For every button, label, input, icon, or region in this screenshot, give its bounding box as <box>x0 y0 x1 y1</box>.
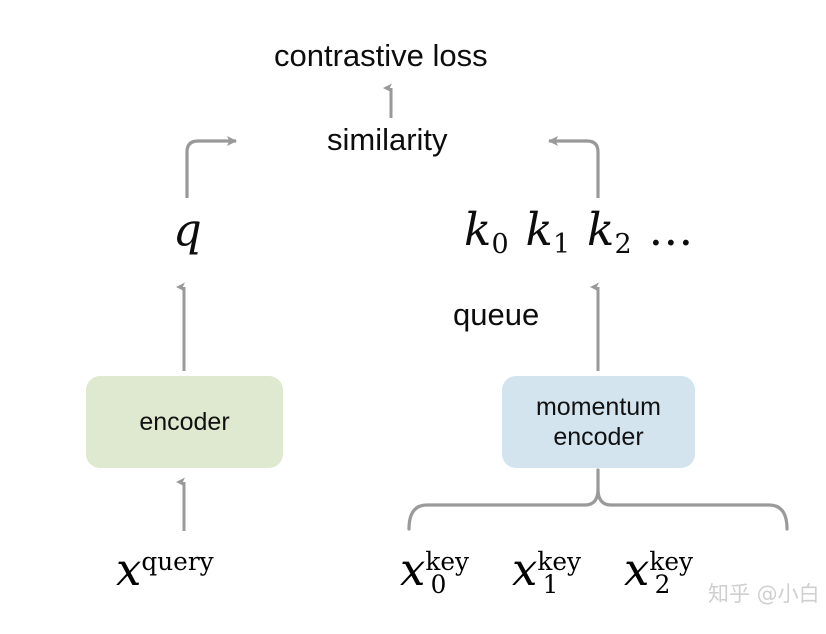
key-symbol-1: k1 <box>525 203 569 256</box>
zhihu-watermark: 知乎 @小白 <box>708 578 820 608</box>
x-key-1-subscript: 1 <box>543 570 559 599</box>
key-symbol-2: k2 <box>587 203 631 256</box>
x-key-2-subscript: 2 <box>655 570 671 599</box>
similarity-label: similarity <box>327 124 448 155</box>
input-x-key-2: xkey2 <box>624 543 709 596</box>
x-query-superscript: query <box>141 547 213 576</box>
momentum-encoder-box[interactable]: momentum encoder <box>502 376 695 468</box>
momentum-encoder-box-label: momentum encoder <box>536 392 661 452</box>
key-symbol-0: k0 <box>464 203 508 256</box>
momentum-encoder-line2: encoder <box>553 423 643 451</box>
encoder-box[interactable]: encoder <box>86 376 283 468</box>
key-inputs-brace <box>409 470 787 529</box>
queue-label: queue <box>453 299 539 330</box>
contrastive-loss-label: contrastive loss <box>274 40 488 71</box>
input-x-key-1: xkey1 <box>512 543 597 596</box>
input-x-key-0: xkey0 <box>400 543 485 596</box>
momentum-encoder-line1: momentum <box>536 393 661 421</box>
x-key-0-subscript: 0 <box>431 570 447 599</box>
query-representation-symbol: q <box>173 207 202 252</box>
key-representations-symbols: k0k1k2… <box>464 207 695 252</box>
encoder-box-label: encoder <box>139 407 229 437</box>
key-ellipsis: … <box>648 203 695 256</box>
input-x-query: xquery <box>116 543 214 596</box>
arrow-keys-to-similarity <box>549 141 598 198</box>
moco-architecture-diagram: contrastive loss similarity queue q k0k1… <box>0 0 826 634</box>
connector-layer <box>0 0 826 634</box>
arrow-q-to-similarity <box>187 141 236 198</box>
